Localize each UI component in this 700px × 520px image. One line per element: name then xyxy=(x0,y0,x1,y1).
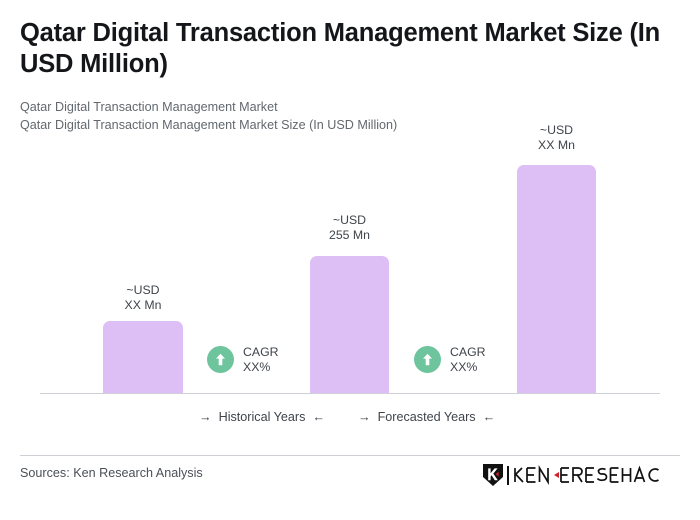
sources-text: Sources: Ken Research Analysis xyxy=(20,466,203,480)
cagr-badge-1-text: CAGR XX% xyxy=(243,345,279,374)
chart-page: Qatar Digital Transaction Management Mar… xyxy=(0,0,700,520)
cagr-badge-2-line1: CAGR xyxy=(450,345,486,360)
period-label-forecasted: → Forecasted Years ← xyxy=(358,410,495,424)
bar-label-3-line1: ~USD xyxy=(517,123,596,138)
bar-1[interactable] xyxy=(103,321,183,394)
footer-divider xyxy=(20,455,680,456)
bar-chart: ~USD XX Mn CAGR XX% ~USD 255 Mn xyxy=(0,0,700,440)
cagr-badge-2-text: CAGR XX% xyxy=(450,345,486,374)
bar-label-1-line2: XX Mn xyxy=(103,298,183,313)
bar-3[interactable] xyxy=(517,165,596,394)
bar-label-2: ~USD 255 Mn xyxy=(310,213,389,242)
bar-label-2-line2: 255 Mn xyxy=(310,228,389,243)
ken-research-logo xyxy=(482,463,663,487)
period-label-forecasted-text: Forecasted Years xyxy=(378,410,476,424)
period-label-historical: → Historical Years ← xyxy=(199,410,325,424)
period-label-historical-text: Historical Years xyxy=(219,410,306,424)
cagr-badge-2[interactable]: CAGR XX% xyxy=(414,345,486,374)
cagr-badge-1[interactable]: CAGR XX% xyxy=(207,345,279,374)
logo-wordmark xyxy=(513,465,663,485)
bar-label-1: ~USD XX Mn xyxy=(103,283,183,312)
arrow-left-icon: ← xyxy=(312,411,325,424)
arrow-up-icon xyxy=(207,346,234,373)
cagr-badge-1-line2: XX% xyxy=(243,360,279,375)
cagr-badge-2-line2: XX% xyxy=(450,360,486,375)
bar-2[interactable] xyxy=(310,256,389,394)
ken-shield-icon xyxy=(482,463,504,487)
arrow-left-icon: ← xyxy=(483,411,496,424)
cagr-badge-1-line1: CAGR xyxy=(243,345,279,360)
arrow-up-icon xyxy=(414,346,441,373)
arrow-right-icon: → xyxy=(358,411,371,424)
logo-divider xyxy=(507,466,509,485)
bar-label-3-line2: XX Mn xyxy=(517,138,596,153)
bar-label-1-line1: ~USD xyxy=(103,283,183,298)
axis-baseline xyxy=(40,393,660,394)
arrow-right-icon: → xyxy=(199,411,212,424)
bar-label-2-line1: ~USD xyxy=(310,213,389,228)
bar-label-3: ~USD XX Mn xyxy=(517,123,596,152)
